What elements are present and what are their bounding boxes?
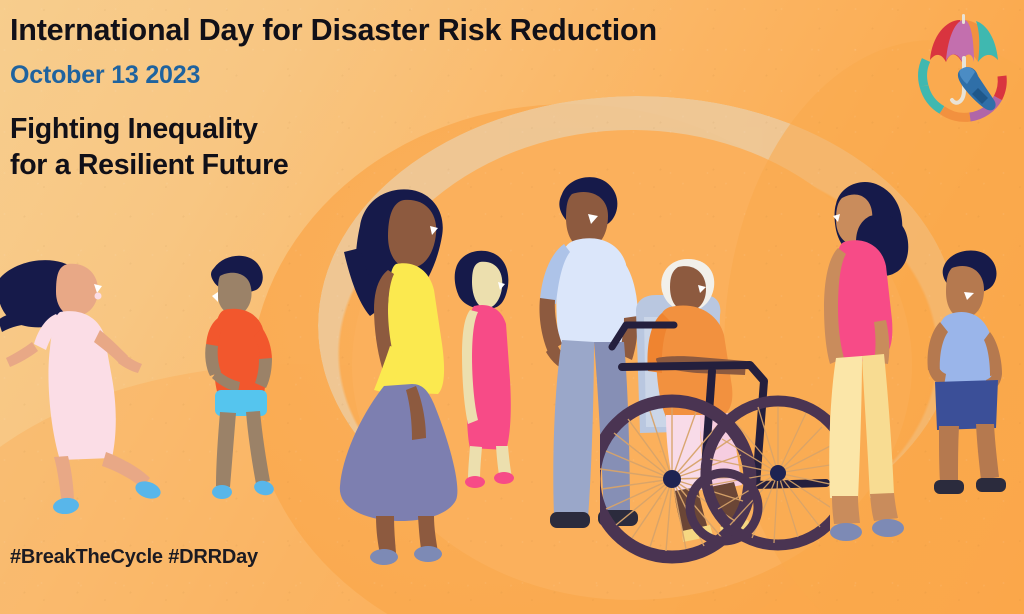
undrr-umbrella-logo <box>912 14 1016 126</box>
figure-boy-orange-shirt <box>184 252 294 510</box>
figure-elder-in-wheelchair <box>600 255 830 585</box>
figure-boy-blue-shirt <box>920 248 1012 506</box>
event-date: October 13 2023 <box>10 63 657 88</box>
tagline-line-2: for a Resilient Future <box>10 147 657 183</box>
figure-girl-running-pink-dress <box>0 248 184 514</box>
tagline: Fighting Inequality for a Resilient Futu… <box>10 111 657 183</box>
page-title: International Day for Disaster Risk Redu… <box>10 14 657 46</box>
figure-woman-pink-top <box>812 180 924 550</box>
umbrella-icon <box>912 14 1016 126</box>
poster-canvas: International Day for Disaster Risk Redu… <box>0 0 1024 614</box>
hashtags: #BreakTheCycle #DRRDay <box>10 546 258 569</box>
headline-text-block: International Day for Disaster Risk Redu… <box>10 14 657 183</box>
tagline-line-1: Fighting Inequality <box>10 111 657 147</box>
figure-girl-pink-dress-bob <box>440 248 518 488</box>
